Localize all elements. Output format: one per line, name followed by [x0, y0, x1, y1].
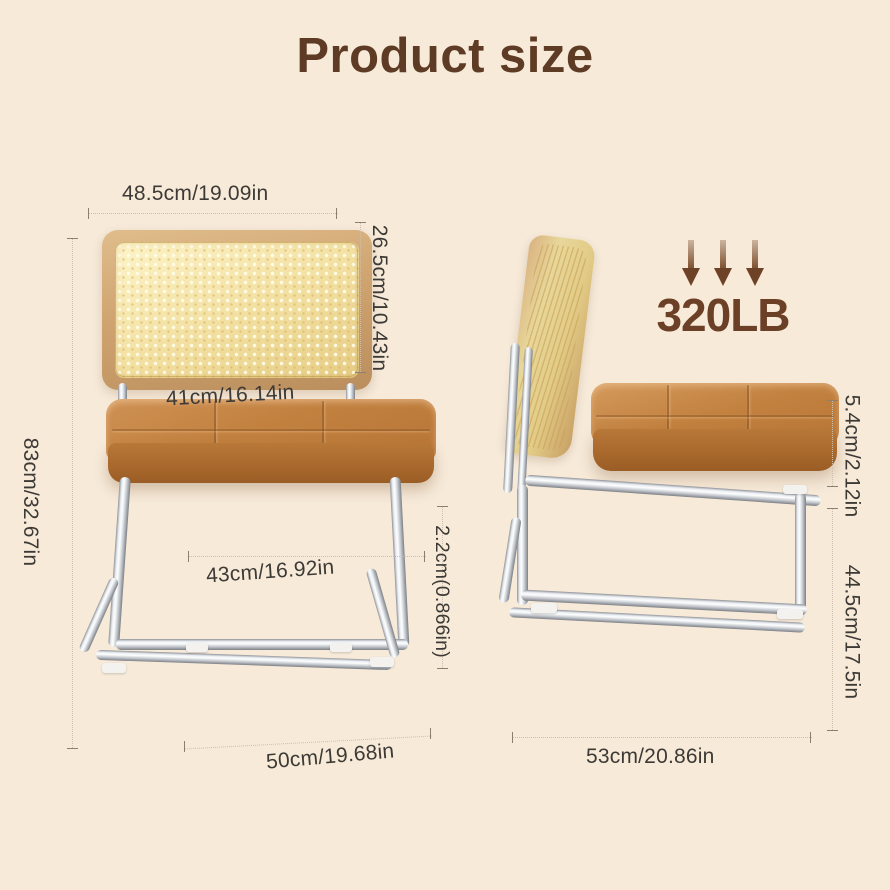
frame-foot-cap [370, 657, 394, 667]
dimension-end-cap [336, 208, 337, 219]
dimension-end-cap [437, 668, 448, 669]
frame-leg-rear [795, 493, 806, 613]
dimension-end-cap [67, 238, 78, 239]
dimension-end-cap [67, 748, 78, 749]
dimension-cushion-thickness: 5.4cm/2.12in [839, 395, 863, 518]
dimension-end-cap [424, 551, 425, 562]
dimension-end-cap [188, 551, 189, 562]
page-title: Product size [0, 28, 890, 84]
load-capacity-value: 320LB [628, 288, 818, 342]
load-arrows [628, 240, 818, 286]
dimension-end-cap [88, 208, 89, 219]
frame-foot-cap [783, 485, 807, 494]
dimension-end-cap [437, 506, 448, 507]
frame-leg-front [517, 485, 528, 605]
dimension-backrest-height: 26.5cm/10.43in [367, 225, 391, 371]
dimension-end-cap [430, 728, 431, 739]
dimension-end-cap [827, 730, 838, 731]
extension-line [72, 238, 73, 748]
dimension-total-height: 83cm/32.67in [18, 438, 42, 566]
seat-cushion [591, 383, 839, 481]
seat-cushion [106, 399, 436, 489]
front-view-chair-illustration [78, 215, 458, 735]
seat-cushion-side [108, 443, 434, 483]
dimension-tube-diameter: 2.2cm(0.866in) [430, 525, 453, 658]
frame-runner-bottom [96, 650, 392, 670]
frame-foot-cap [330, 643, 352, 652]
dimension-base-width: 50cm/19.68in [265, 739, 395, 774]
extension-line [360, 222, 361, 372]
extension-line [832, 400, 833, 486]
frame-foot-cap [531, 603, 557, 613]
down-arrow-icon [682, 240, 700, 286]
load-capacity-badge: 320LB [628, 240, 818, 342]
dimension-backrest-width: 48.5cm/19.09in [122, 182, 268, 206]
dimension-end-cap [827, 486, 838, 487]
dimension-seat-height: 44.5cm/17.5in [839, 565, 863, 700]
seat-tuft-line [596, 415, 834, 417]
dimension-end-cap [512, 732, 513, 743]
frame-leg-front-right [390, 477, 410, 647]
dimension-end-cap [810, 732, 811, 743]
dimension-end-cap [827, 508, 838, 509]
frame-rail-bottom [116, 639, 408, 650]
extension-line [832, 508, 833, 730]
seat-tuft-line [112, 429, 430, 431]
extension-line [88, 213, 338, 214]
product-size-diagram: Product size [0, 0, 890, 890]
dimension-base-depth: 53cm/20.86in [586, 745, 714, 769]
extension-line [512, 737, 812, 738]
down-arrow-icon [746, 240, 764, 286]
dimension-end-cap [184, 741, 185, 752]
frame-foot-cap [102, 663, 126, 673]
dimension-end-cap [827, 400, 838, 401]
backrest-rattan-edge [115, 242, 358, 377]
frame-foot-cap [777, 609, 803, 619]
frame-foot-cap [186, 643, 208, 652]
dimension-end-cap [355, 222, 366, 223]
dimension-end-cap [355, 372, 366, 373]
frame-leg-front-left [108, 477, 131, 647]
seat-cushion-side [593, 429, 837, 471]
down-arrow-icon [714, 240, 732, 286]
